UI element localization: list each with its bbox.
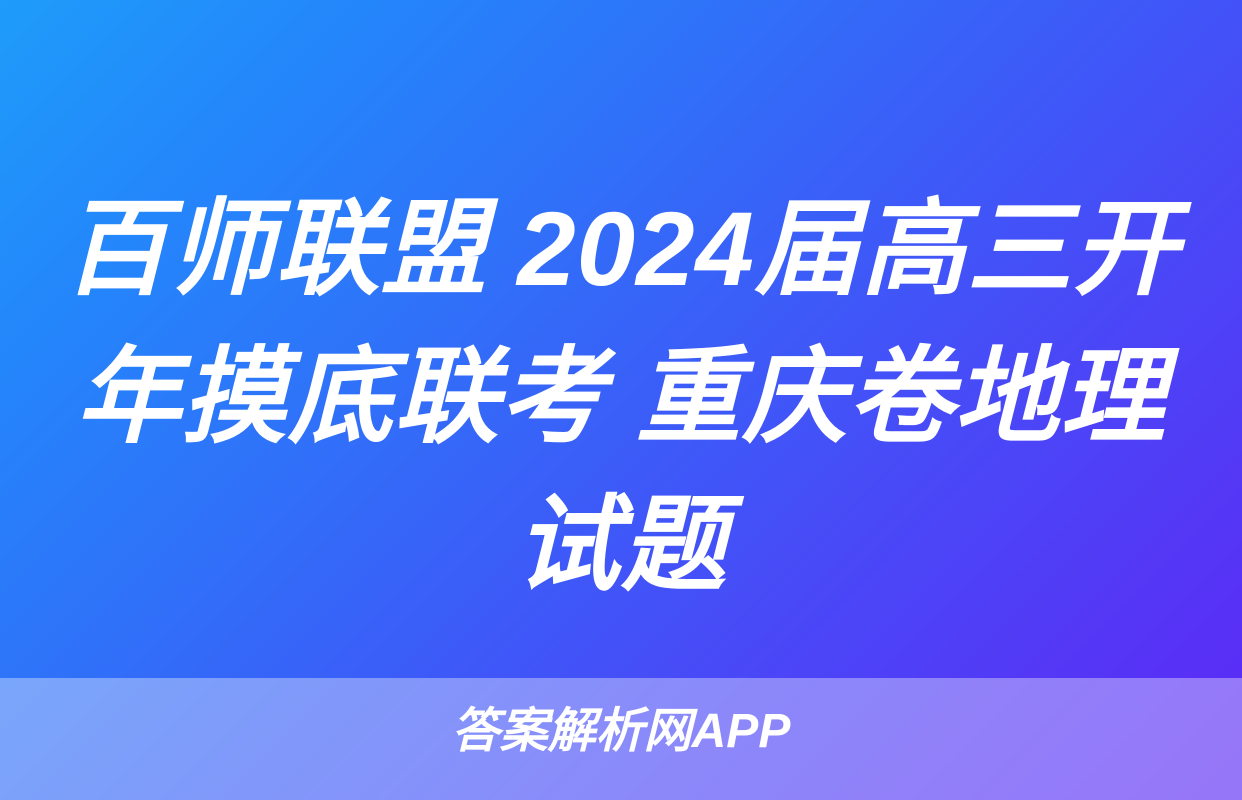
watermark-label: 答案解析网APP [452,702,791,762]
title-line-2: 年摸底联考 重庆卷地理 [52,324,1190,472]
title-line-1: 百师联盟 2024届高三开 [52,176,1190,324]
cover-canvas: 百师联盟 2024届高三开 年摸底联考 重庆卷地理 试题 答案解析网APP [0,0,1242,800]
title-line-3: 试题 [52,472,1190,620]
watermark: 答案解析网APP [0,702,1242,762]
page-title: 百师联盟 2024届高三开 年摸底联考 重庆卷地理 试题 [0,176,1242,620]
